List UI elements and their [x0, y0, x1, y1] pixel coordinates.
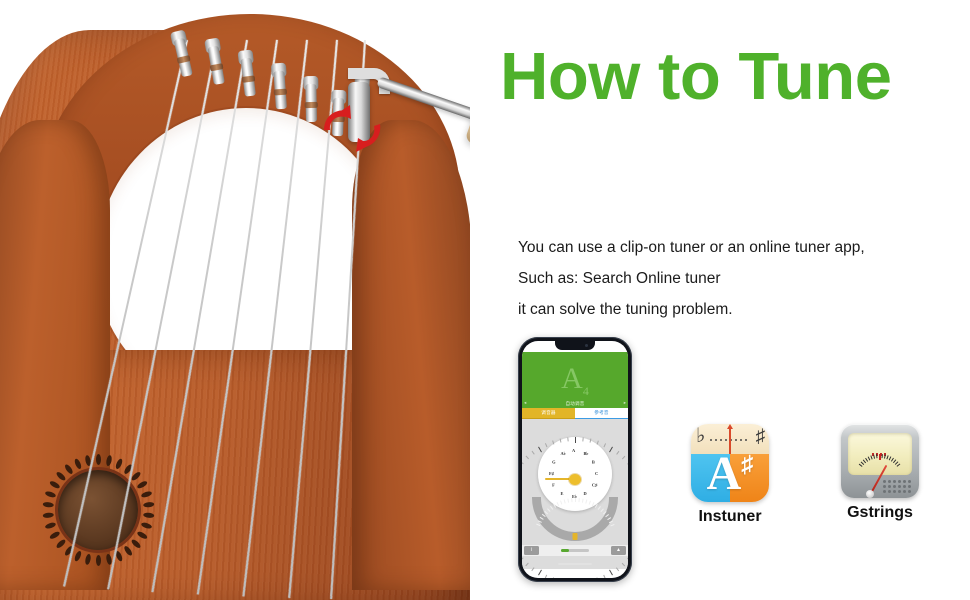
dial-note-label: C♯	[592, 483, 597, 488]
instruction-line-2: Such as: Search Online tuner	[518, 263, 865, 294]
gstrings-meter-face	[848, 433, 912, 475]
tuner-header-subtext: 自动调音	[522, 401, 628, 407]
dial-note-label: A	[572, 448, 575, 453]
phone-screen: ◂ ▸ A4 自动调音 调音器 参考音 AB♭BCC♯DE♭EFF♯GA♭	[522, 341, 628, 578]
gstrings-label: Gstrings	[820, 504, 940, 522]
instuner-glyph: A♯	[691, 450, 769, 498]
rotation-arrow-left	[324, 105, 351, 130]
flat-symbol-icon: ♭	[696, 426, 705, 446]
note-letter: A	[561, 362, 583, 395]
rotation-arrows	[318, 96, 398, 166]
detected-note: A4	[561, 364, 589, 397]
page-root: How to Tune You can use a clip-on tuner …	[0, 0, 970, 600]
sharp-symbol-icon: ♯	[756, 427, 766, 446]
tab-reference-tone[interactable]: 参考音	[575, 408, 628, 419]
level-indicator	[561, 549, 589, 552]
tuner-app-header: ◂ ▸ A4 自动调音	[522, 352, 628, 408]
app-tile-gstrings[interactable]: Gstrings	[820, 424, 940, 522]
gstrings-icon[interactable]	[841, 424, 919, 498]
cents-center-marker	[573, 533, 578, 540]
tuning-peg	[170, 29, 195, 77]
tuning-peg	[303, 76, 319, 122]
tuning-peg	[271, 63, 289, 110]
tuner-tab-bar: 调音器 参考音	[522, 408, 628, 419]
instruction-line-3: it can solve the tuning problem.	[518, 294, 865, 325]
rotation-arrow-right	[356, 124, 380, 152]
app-tile-instuner[interactable]: ♭ ♯ A♯ Instuner	[670, 424, 790, 526]
dial-note-label: B♭	[584, 451, 589, 457]
dial-note-label: E	[561, 491, 564, 496]
lyre-harp-illustration	[0, 0, 470, 600]
instruction-text: You can use a clip-on tuner or an online…	[518, 232, 865, 325]
tab-tuner[interactable]: 调音器	[522, 408, 575, 419]
page-title: How to Tune	[500, 38, 891, 115]
info-button[interactable]: i	[524, 546, 539, 555]
dial-note-label: A♭	[561, 451, 566, 457]
tuning-peg	[204, 37, 227, 85]
dial-note-label: B	[592, 460, 595, 465]
home-indicator	[558, 563, 592, 566]
phone-notch	[555, 341, 595, 350]
tuner-dial-panel: AB♭BCC♯DE♭EFF♯GA♭ i ▲	[522, 419, 628, 569]
tuner-bottom-toolbar: i ▲	[522, 545, 628, 556]
dial-note-label: F	[552, 483, 555, 488]
settings-button[interactable]: ▲	[611, 546, 626, 555]
dial-note-label: C	[595, 471, 598, 476]
dial-note-label: D	[584, 491, 587, 496]
gstrings-speaker-grid	[883, 480, 913, 494]
instruction-line-1: You can use a clip-on tuner or an online…	[518, 232, 865, 263]
dial-needle-hub	[569, 474, 581, 485]
instuner-icon[interactable]: ♭ ♯ A♯	[691, 424, 769, 502]
dial-note-label: G	[552, 460, 555, 465]
tuning-peg	[237, 49, 257, 96]
phone-mockup: ◂ ▸ A4 自动调音 调音器 参考音 AB♭BCC♯DE♭EFF♯GA♭	[518, 337, 632, 582]
dial-note-label: F♯	[549, 471, 554, 476]
instuner-label: Instuner	[670, 508, 790, 526]
gstrings-needle-pivot	[866, 490, 874, 498]
note-octave: 4	[583, 384, 589, 398]
